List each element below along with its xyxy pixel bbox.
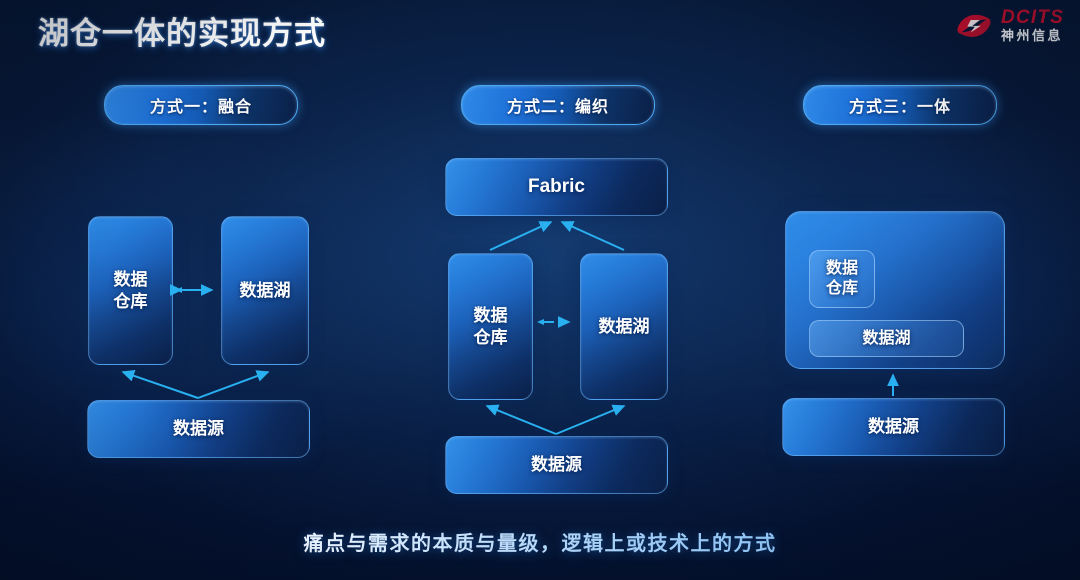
dcits-swirl-logo-icon [954,8,994,42]
col1-data-source-card[interactable]: 数据源 [87,400,310,458]
col1-source-to-warehouse-arrow [123,372,198,398]
logo-text-en: DCITS [1001,8,1064,27]
col2-source-to-lake-arrow [556,406,624,434]
col2-lake-to-fabric-arrow [562,222,624,250]
col2-data-warehouse-card[interactable]: 数据 仓库 [448,253,533,400]
pill-method-three[interactable]: 方式三：一体 [803,85,997,125]
brand-logo: DCITS 神州信息 [954,8,1064,42]
col3-data-warehouse-label: 数据 仓库 [826,259,858,299]
col2-data-source-card[interactable]: 数据源 [445,436,668,494]
col2-fabric-label: Fabric [528,175,585,199]
logo-text-cn: 神州信息 [1001,29,1064,42]
col2-data-source-label: 数据源 [531,454,582,475]
col2-data-lake-card[interactable]: 数据湖 [580,253,668,400]
col1-data-source-label: 数据源 [173,418,224,439]
col1-warehouse-lake-arrow [176,287,212,293]
col2-warehouse-lake-dashed-arrow [537,319,569,325]
col1-data-warehouse-card[interactable]: 数据 仓库 [88,216,173,365]
footer-caption: 痛点与需求的本质与量级，逻辑上或技术上的方式 [0,527,1080,556]
col2-source-to-warehouse-arrow [487,406,556,434]
col3-data-warehouse-card[interactable]: 数据 仓库 [809,250,875,308]
col3-data-lake-card[interactable]: 数据湖 [809,320,964,357]
page-title: 湖仓一体的实现方式 [38,8,326,53]
pill-method-one[interactable]: 方式一：融合 [104,85,298,125]
pill-method-two[interactable]: 方式二：编织 [461,85,655,125]
col2-data-warehouse-label: 数据 仓库 [474,305,508,348]
col3-data-source-card[interactable]: 数据源 [782,398,1005,456]
slide-canvas: 湖仓一体的实现方式 DCITS 神州信息 方式一：融合 方式二：编织 方式三：一… [0,0,1080,580]
col1-data-warehouse-label: 数据 仓库 [114,269,148,312]
col3-unified-platform-card[interactable]: 数据 仓库 数据湖 [785,211,1005,369]
col3-data-source-label: 数据源 [868,416,919,437]
col1-data-lake-label: 数据湖 [240,280,291,301]
col3-data-lake-label: 数据湖 [862,329,910,349]
col2-data-lake-label: 数据湖 [599,316,650,337]
col2-warehouse-to-fabric-arrow [490,222,551,250]
col2-fabric-card[interactable]: Fabric [445,158,668,216]
col1-data-lake-card[interactable]: 数据湖 [221,216,309,365]
col1-source-to-lake-arrow [198,372,268,398]
